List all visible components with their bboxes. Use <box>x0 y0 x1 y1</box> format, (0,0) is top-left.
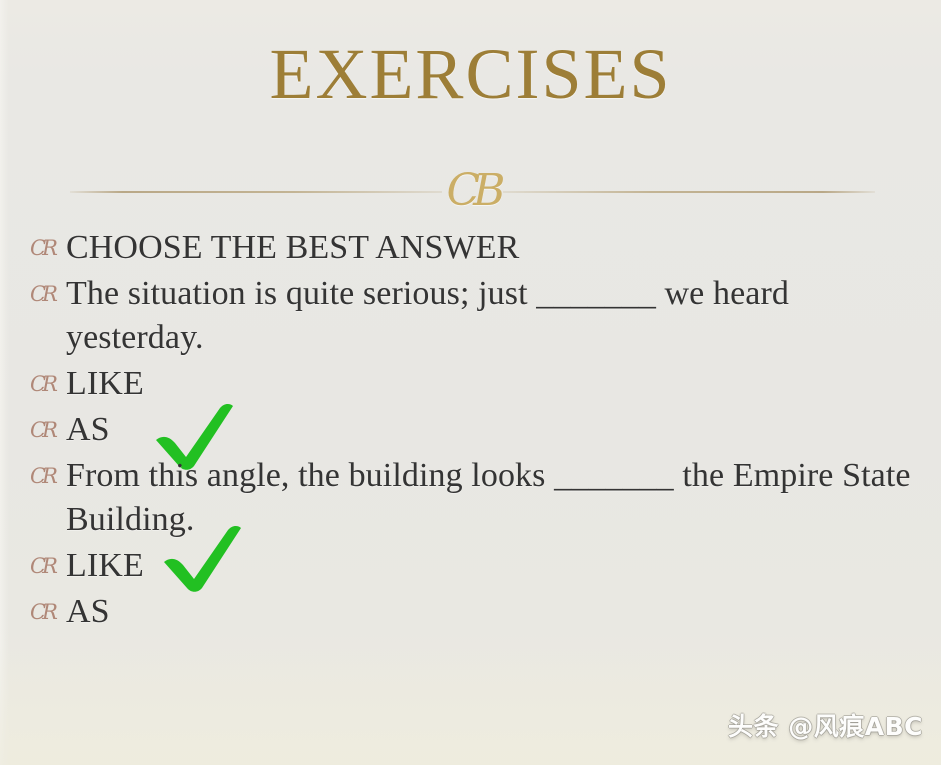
cr-bullet-icon: CR <box>28 362 66 406</box>
page-title: EXERCISES <box>0 38 941 110</box>
list-item: CR CHOOSE THE BEST ANSWER <box>28 226 923 270</box>
divider-rule-left <box>70 191 442 193</box>
cr-bullet-icon: CR <box>28 454 66 498</box>
cr-bullet-icon: CR <box>28 226 66 270</box>
cr-bullet-icon: CR <box>28 590 66 634</box>
slide-bottom-wash <box>0 645 941 765</box>
slide-left-edge-artifact <box>0 0 9 765</box>
list-item: CR From this angle, the building looks _… <box>28 454 923 542</box>
list-item-label: From this angle, the building looks ____… <box>66 454 923 542</box>
list-item-option[interactable]: CR AS <box>28 590 923 634</box>
watermark: 头条 @风痕ABC <box>728 707 923 743</box>
list-item-label: The situation is quite serious; just ___… <box>66 272 923 360</box>
cr-bullet-icon: CR <box>28 544 66 588</box>
cr-bullet-icon: CR <box>28 272 66 316</box>
list-item-label: CHOOSE THE BEST ANSWER <box>66 226 923 270</box>
list-item-label: LIKE <box>66 544 923 588</box>
cr-bullet-icon: CR <box>28 408 66 452</box>
list-item-option[interactable]: CR AS <box>28 408 923 452</box>
list-item-option[interactable]: CR LIKE <box>28 362 923 406</box>
decorative-divider: CB <box>70 170 875 214</box>
list-item-label: AS <box>66 590 923 634</box>
bullet-list: CR CHOOSE THE BEST ANSWER CR The situati… <box>28 226 923 636</box>
list-item-option[interactable]: CR LIKE <box>28 544 923 588</box>
divider-ornament-icon: CB <box>447 169 499 213</box>
list-item-label: LIKE <box>66 362 923 406</box>
list-item-label: AS <box>66 408 923 452</box>
slide-canvas: EXERCISES CB CR CHOOSE THE BEST ANSWER C… <box>0 0 941 765</box>
list-item: CR The situation is quite serious; just … <box>28 272 923 360</box>
divider-rule-right <box>503 191 875 193</box>
